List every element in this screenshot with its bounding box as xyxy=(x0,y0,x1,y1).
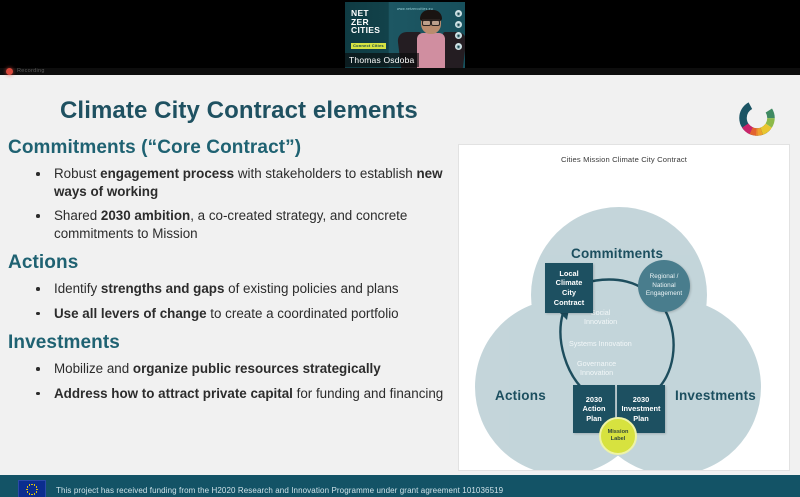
globe-icon[interactable]: ◉ xyxy=(455,10,462,17)
shirt xyxy=(417,33,445,69)
eu-flag xyxy=(18,480,46,497)
eu-star-icon xyxy=(26,489,28,491)
node-regional-national-engagement: Regional /NationalEngagement xyxy=(638,260,690,312)
eu-star-icon xyxy=(36,491,38,493)
page-title: Climate City Contract elements xyxy=(60,97,418,125)
linkedin-icon[interactable]: ◉ xyxy=(455,32,462,39)
recording-strip: Recording xyxy=(0,68,800,75)
center-text-systems-innovation: Systems Innovation xyxy=(569,339,632,348)
box-local-climate-city-contract: LocalClimateCityContract xyxy=(545,263,593,313)
section-commitments: Commitments (“Core Contract”) Robust eng… xyxy=(8,137,448,242)
netzerocities-logo: NET ZER CITIES Connect Cities xyxy=(351,9,391,51)
section-heading: Commitments (“Core Contract”) xyxy=(8,137,448,159)
eu-star-icon xyxy=(27,486,29,488)
list-item: Identify strengths and gaps of existing … xyxy=(36,280,448,298)
eu-star-icon xyxy=(29,493,31,495)
footer-funding-text: This project has received funding from t… xyxy=(56,486,503,495)
section-actions: Actions Identify strengths and gaps of e… xyxy=(8,252,448,322)
recording-label: Recording xyxy=(17,68,45,75)
speaker-name-label: Thomas Osdoba xyxy=(345,53,419,67)
eu-mission-ring-logo xyxy=(736,97,778,139)
list-item: Address how to attract private capital f… xyxy=(36,385,448,403)
list-item: Robust engagement process with stakehold… xyxy=(36,165,448,200)
eu-star-icon xyxy=(31,484,33,486)
center-text-governance-innovation: GovernanceInnovation xyxy=(577,359,616,377)
recording-indicator-icon xyxy=(6,68,13,75)
eu-star-icon xyxy=(36,489,38,491)
section-heading: Actions xyxy=(8,252,448,274)
bullet-list: Mobilize and organize public resources s… xyxy=(8,360,448,402)
list-item: Shared 2030 ambition, a co-created strat… xyxy=(36,207,448,242)
section-investments: Investments Mobilize and organize public… xyxy=(8,332,448,402)
slide-footer: This project has received funding from t… xyxy=(0,475,800,497)
venn-diagram-panel: Cities Mission Climate City Contract Com… xyxy=(458,144,790,471)
logo-line-3: CITIES xyxy=(351,26,391,35)
eu-star-icon xyxy=(31,494,33,496)
list-item: Use all levers of change to create a coo… xyxy=(36,305,448,323)
social-icon-list: ◉ ◉ ◉ ◉ xyxy=(455,10,462,50)
twitter-icon[interactable]: ◉ xyxy=(455,21,462,28)
presentation-slide: Climate City Contract elements Commitmen… xyxy=(0,75,800,497)
eu-star-icon xyxy=(36,486,38,488)
eu-star-icon xyxy=(29,484,31,486)
section-heading: Investments xyxy=(8,332,448,354)
logo-tagline: Connect Cities xyxy=(351,43,386,49)
list-item: Mobilize and organize public resources s… xyxy=(36,360,448,378)
bullet-list: Robust engagement process with stakehold… xyxy=(8,165,448,242)
video-band: NET ZER CITIES Connect Cities www.netzer… xyxy=(0,0,800,72)
circle-label-commitments: Commitments xyxy=(571,246,663,261)
eu-star-icon xyxy=(34,493,36,495)
speaker-video-tile[interactable]: NET ZER CITIES Connect Cities www.netzer… xyxy=(345,2,465,69)
glasses-icon xyxy=(422,19,440,25)
circle-label-actions: Actions xyxy=(495,388,546,403)
bullet-list: Identify strengths and gaps of existing … xyxy=(8,280,448,322)
slide-body-text: Commitments (“Core Contract”) Robust eng… xyxy=(8,137,448,412)
share-icon[interactable]: ◉ xyxy=(455,43,462,50)
node-mission-label: MissionLabel xyxy=(599,417,637,455)
circle-label-investments: Investments xyxy=(675,388,756,403)
